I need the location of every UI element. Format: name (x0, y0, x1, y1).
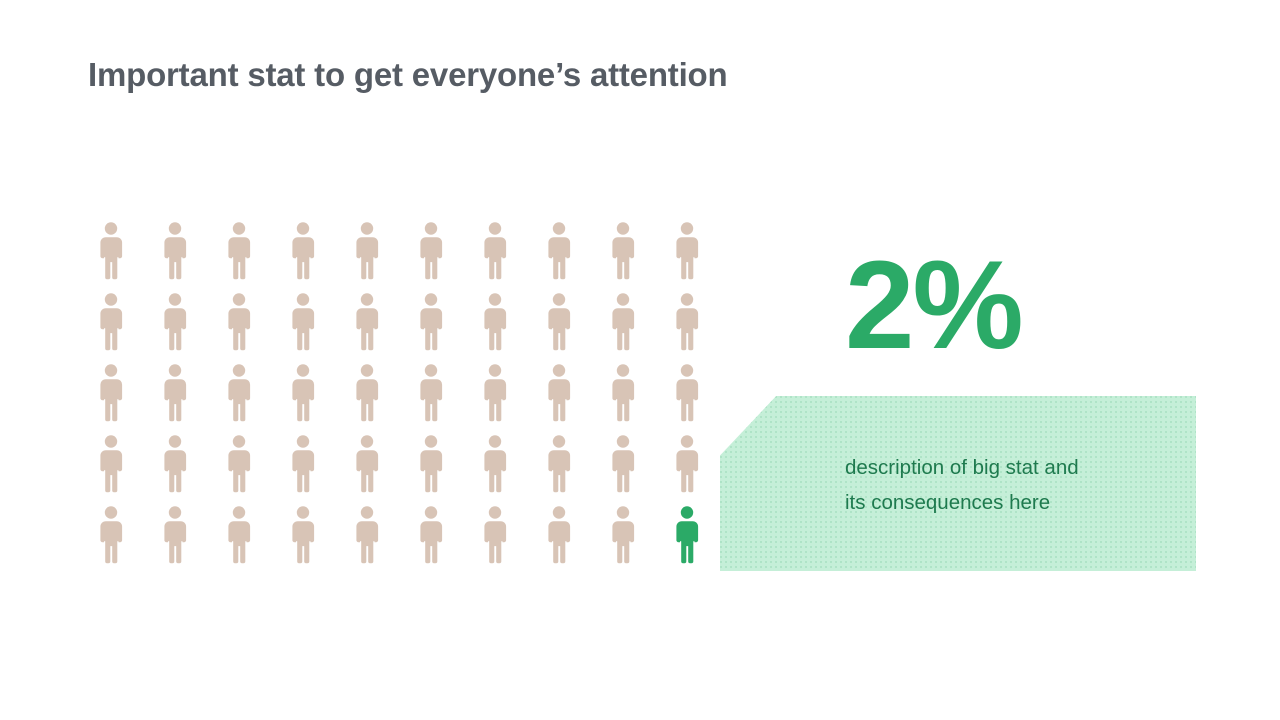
pictogram-chart (96, 222, 736, 577)
callout-description: description of big stat and its conseque… (845, 450, 1165, 520)
person-icon (544, 435, 574, 493)
person-icon (224, 435, 254, 493)
person-icon (352, 293, 382, 351)
person-icon (224, 506, 254, 564)
person-icon (160, 222, 190, 280)
slide-canvas: Important stat to get everyone’s attenti… (0, 0, 1280, 720)
person-icon (608, 364, 638, 422)
person-icon (480, 435, 510, 493)
callout-description-line-2: its consequences here (845, 485, 1165, 520)
person-icon (480, 506, 510, 564)
person-icon (96, 364, 126, 422)
person-icon (544, 506, 574, 564)
person-icon (416, 364, 446, 422)
callout-box: description of big stat and its conseque… (720, 396, 1196, 571)
person-icon (672, 222, 702, 280)
person-icon (96, 293, 126, 351)
person-icon (288, 506, 318, 564)
person-icon (416, 293, 446, 351)
person-icon (480, 293, 510, 351)
person-icon (352, 222, 382, 280)
person-icon (416, 506, 446, 564)
person-icon (288, 293, 318, 351)
person-icon (672, 293, 702, 351)
person-icon (96, 222, 126, 280)
person-icon (288, 435, 318, 493)
person-icon (224, 222, 254, 280)
person-icon (608, 222, 638, 280)
person-icon (544, 222, 574, 280)
person-icon (544, 364, 574, 422)
person-icon (160, 506, 190, 564)
callout-description-line-1: description of big stat and (845, 450, 1165, 485)
person-icon (160, 435, 190, 493)
person-icon (224, 293, 254, 351)
person-icon (416, 435, 446, 493)
person-icon (672, 435, 702, 493)
person-icon (608, 435, 638, 493)
person-icon (352, 506, 382, 564)
person-icon (96, 435, 126, 493)
person-icon (160, 364, 190, 422)
person-icon (416, 222, 446, 280)
person-icon (480, 222, 510, 280)
person-icon (352, 364, 382, 422)
person-icon (352, 435, 382, 493)
person-icon (96, 506, 126, 564)
person-icon (160, 293, 190, 351)
big-stat-value: 2% (845, 243, 1022, 368)
person-icon (544, 293, 574, 351)
person-icon (608, 506, 638, 564)
person-icon (672, 364, 702, 422)
person-icon-highlighted (672, 506, 702, 564)
person-icon (480, 364, 510, 422)
person-icon (288, 222, 318, 280)
page-title: Important stat to get everyone’s attenti… (88, 56, 727, 94)
person-icon (224, 364, 254, 422)
person-icon (288, 364, 318, 422)
person-icon (608, 293, 638, 351)
